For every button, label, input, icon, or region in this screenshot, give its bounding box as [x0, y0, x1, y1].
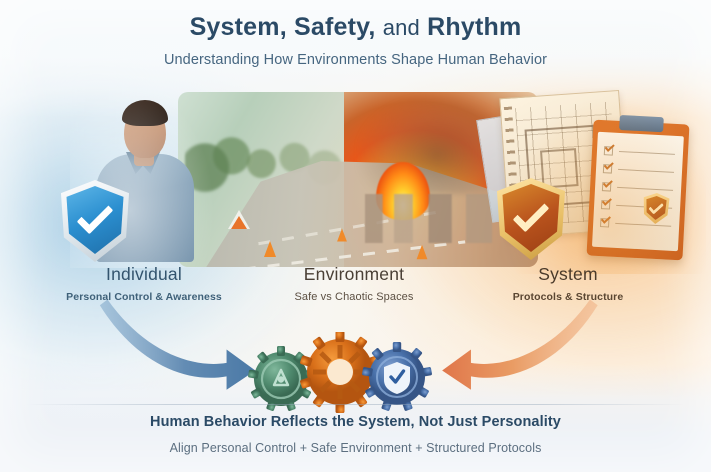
traffic-cone-icon [337, 228, 347, 241]
compliance-gear [362, 342, 432, 411]
wreckage-debris [365, 194, 509, 243]
footer-divider [26, 404, 685, 405]
title-part-2: and [383, 15, 420, 40]
shield-check-icon-individual [58, 180, 132, 262]
title-part-1: System, Safety, [190, 13, 376, 41]
column-environment: Environment Safe vs Chaotic Spaces [248, 264, 460, 303]
clipboard-clamp [619, 115, 664, 132]
traffic-cone-icon [416, 245, 427, 259]
checklist-clipboard [587, 120, 690, 261]
footer-headline: Human Behavior Reflects the System, Not … [0, 414, 711, 430]
footer-subline: Align Personal Control + Safe Environmen… [0, 441, 711, 455]
traffic-cone-icon [264, 241, 276, 257]
title-part-3: Rhythm [427, 13, 521, 41]
column-subtext: Personal Control & Awareness [38, 291, 250, 303]
column-heading: Individual [38, 264, 250, 285]
gear-hub [327, 359, 353, 385]
column-subtext: Safe vs Chaotic Spaces [248, 291, 460, 303]
checklist-line [619, 151, 675, 155]
system-to-gears-arrow [442, 300, 598, 390]
scene-strip [0, 92, 711, 274]
individual-to-gears-arrow [100, 300, 256, 390]
footer: Human Behavior Reflects the System, Not … [0, 414, 711, 455]
checklist-line [617, 187, 673, 191]
column-heading: System [462, 264, 674, 285]
clipboard-paper [592, 132, 684, 251]
shield-check-icon-system [494, 178, 568, 260]
infographic-poster: System, Safety, and Rhythm Understanding… [0, 0, 711, 472]
checklist-row [603, 164, 674, 178]
page-title: System, Safety, and Rhythm [0, 12, 711, 43]
gear-cluster [248, 332, 448, 410]
header: System, Safety, and Rhythm Understanding… [0, 12, 711, 68]
column-system: System Protocols & Structure [462, 264, 674, 303]
checklist-row [604, 146, 675, 160]
column-individual: Individual Personal Control & Awareness [38, 264, 250, 303]
checklist-line [618, 169, 674, 173]
column-subtext: Protocols & Structure [462, 291, 674, 303]
shield-badge-icon [641, 192, 671, 224]
page-subtitle: Understanding How Environments Shape Hum… [0, 52, 711, 68]
gears-svg [248, 332, 448, 414]
warning-triangle-icon [228, 210, 250, 229]
column-heading: Environment [248, 264, 460, 285]
